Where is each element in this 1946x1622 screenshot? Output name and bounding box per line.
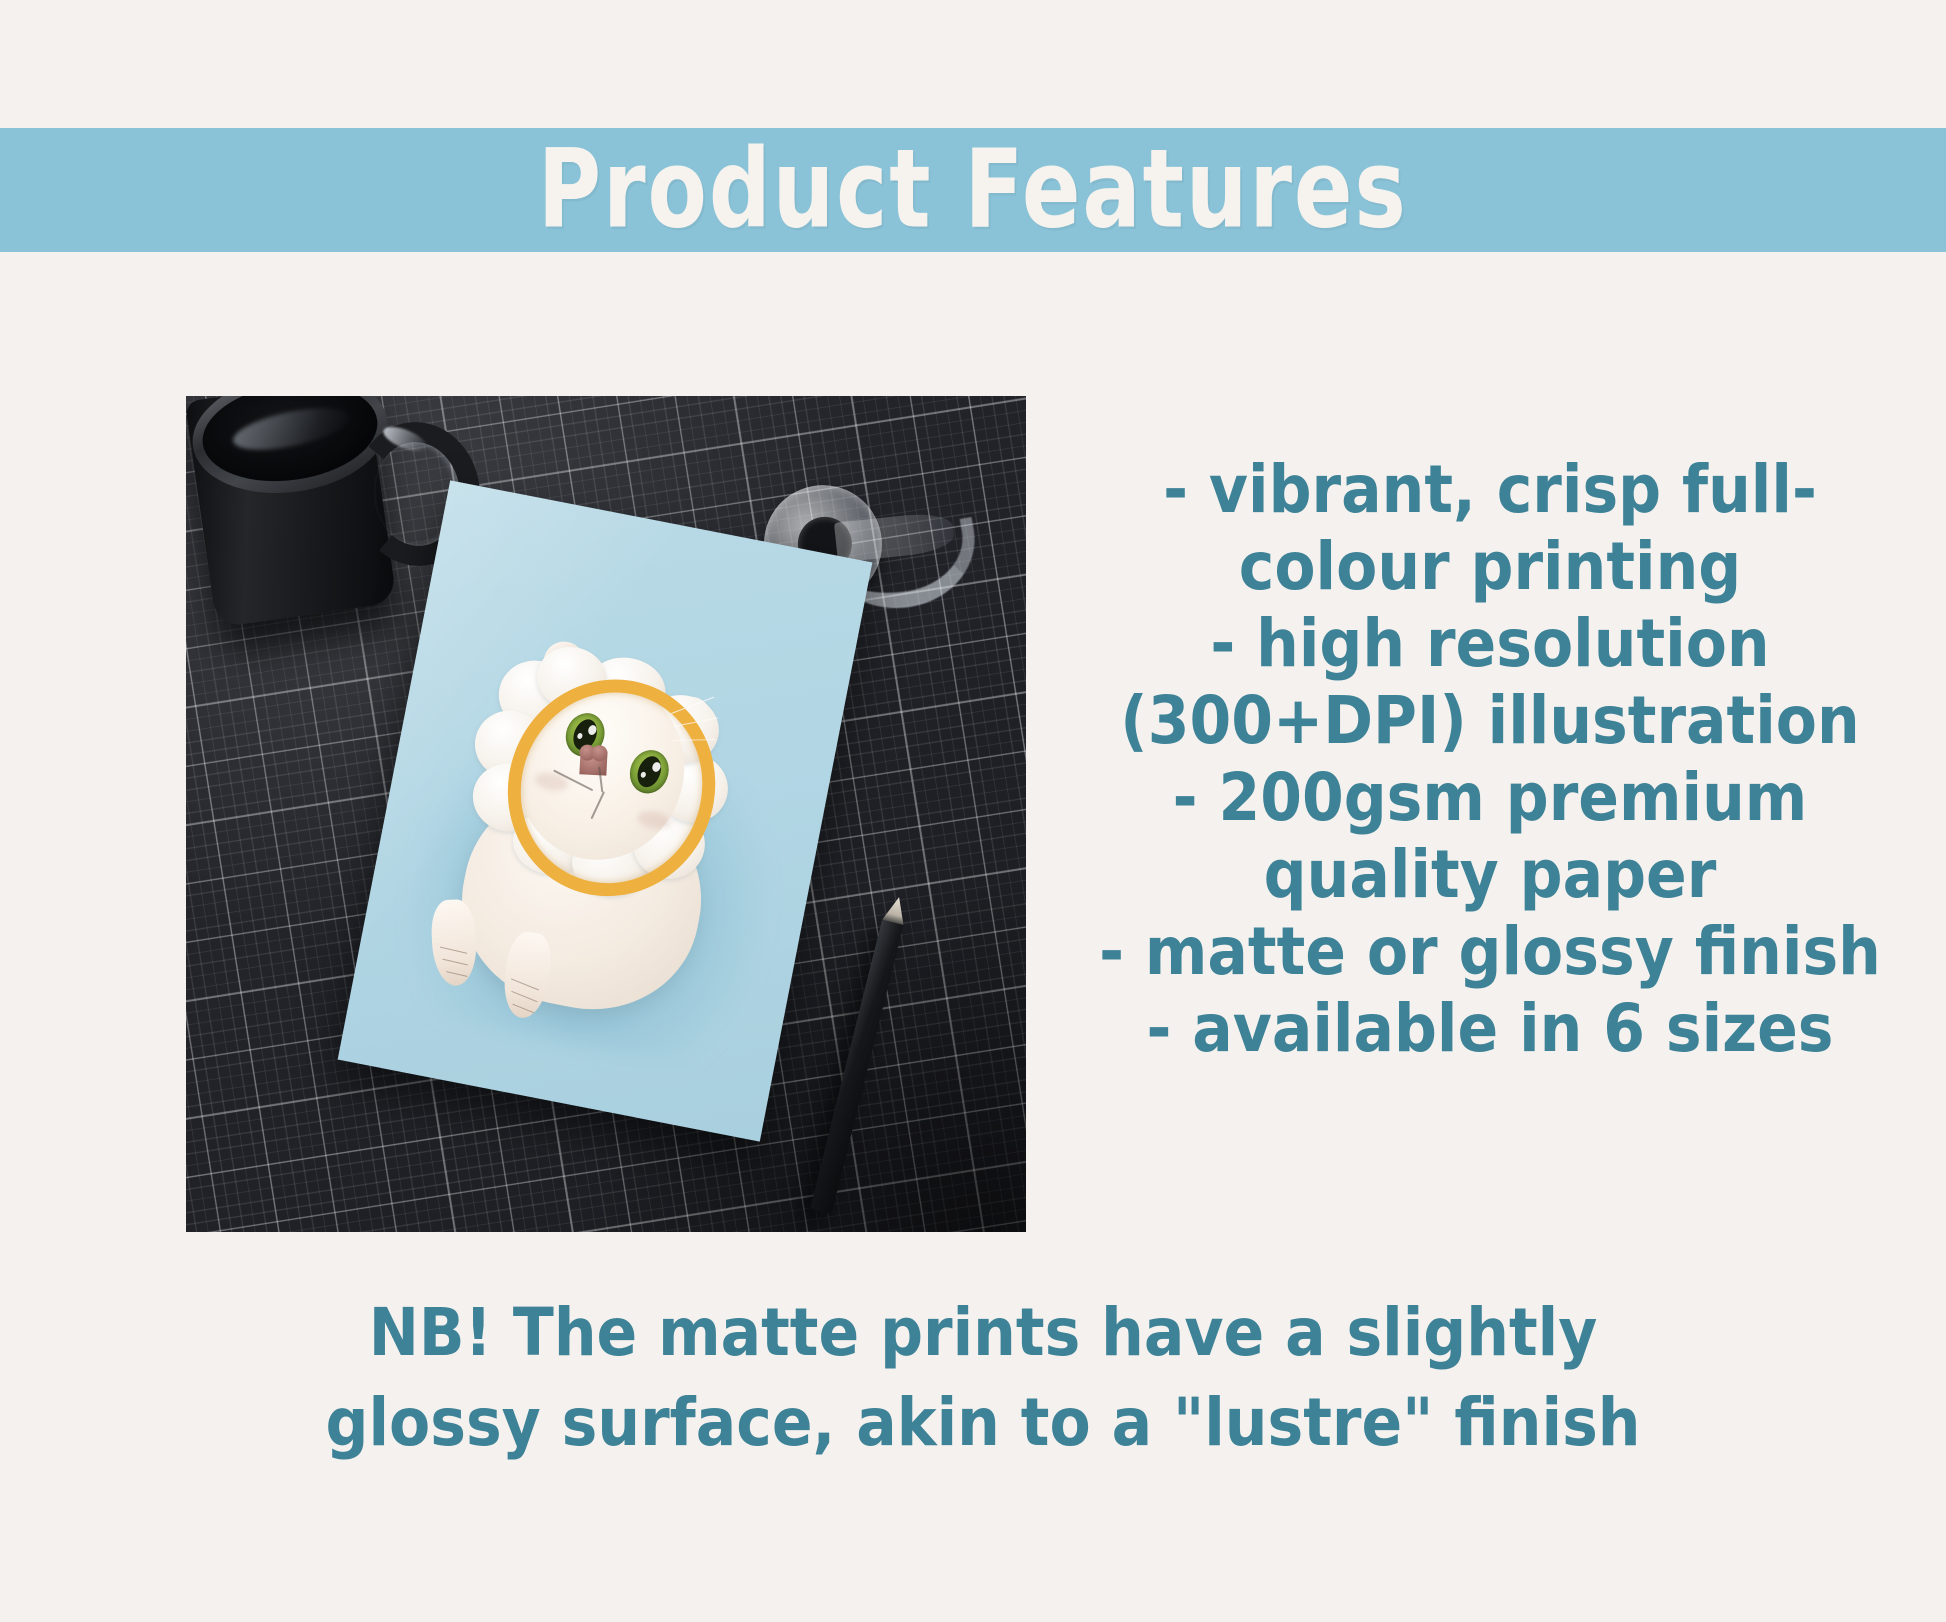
feature-line: - high resolution [1060,602,1920,687]
feature-line: (300+DPI) illustration [1060,679,1920,764]
feature-line: quality paper [1060,833,1920,918]
finish-disclaimer-note: NB! The matte prints have a slightly glo… [273,1288,1693,1468]
page-title: Product Features [538,136,1408,245]
footer-note-line: glossy surface, akin to a "lustre" finis… [273,1374,1693,1473]
page-header-banner: Product Features [0,128,1946,252]
footer-note-line: NB! The matte prints have a slightly [273,1284,1693,1383]
feature-line: colour printing [1060,525,1920,610]
feature-line: - vibrant, crisp full- [1060,448,1920,533]
product-features-list: - vibrant, crisp full- colour printing -… [1060,452,1920,1068]
feature-line: - matte or glossy finish [1060,910,1920,995]
feature-line: - available in 6 sizes [1060,987,1920,1072]
product-photo [186,396,1026,1232]
feature-line: - 200gsm premium [1060,756,1920,841]
